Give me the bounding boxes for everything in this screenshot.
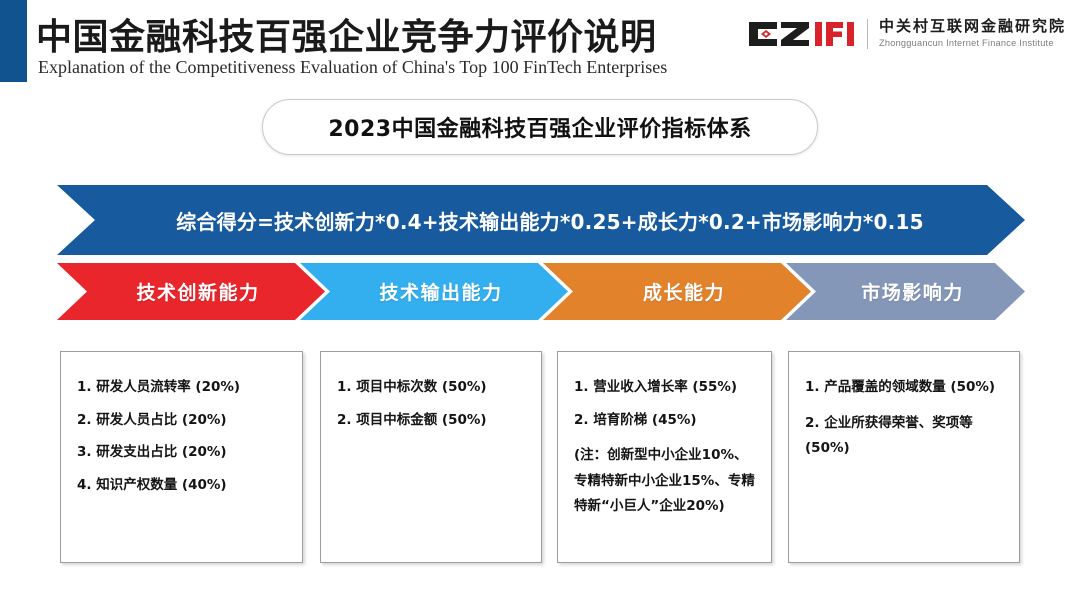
detail-line: 1. 研发人员流转率 (20%) — [77, 378, 290, 398]
detail-box-3: 1. 营业收入增长率 (55%)2. 培育阶梯 (45%)(注：创新型中小企业1… — [557, 351, 772, 563]
detail-box-2: 1. 项目中标次数 (50%)2. 项目中标金额 (50%) — [320, 351, 542, 563]
category-chevron-4[interactable]: 市场影响力 — [786, 263, 1025, 320]
czifi-logo-icon — [747, 18, 857, 50]
score-formula-banner: 综合得分=技术创新力*0.4+技术输出能力*0.25+成长力*0.2+市场影响力… — [57, 185, 1025, 255]
detail-line: 2. 企业所获得荣誉、奖项等 (50%) — [805, 411, 1007, 462]
organization-logo: 中关村互联网金融研究院 Zhongguancun Internet Financ… — [747, 12, 1066, 56]
index-system-title-text: 2023中国金融科技百强企业评价指标体系 — [328, 111, 751, 143]
detail-box-4: 1. 产品覆盖的领域数量 (50%)2. 企业所获得荣誉、奖项等 (50%) — [788, 351, 1020, 563]
detail-line: 1. 营业收入增长率 (55%) — [574, 378, 759, 398]
category-chevron-label: 市场影响力 — [847, 278, 964, 305]
detail-line: 1. 项目中标次数 (50%) — [337, 378, 529, 398]
logo-name-english: Zhongguancun Internet Finance Institute — [879, 38, 1066, 50]
detail-box-1: 1. 研发人员流转率 (20%)2. 研发人员占比 (20%)3. 研发支出占比… — [60, 351, 303, 563]
header-accent-bar — [0, 0, 27, 82]
category-chevron-row: 技术创新能力技术输出能力成长能力市场影响力 — [57, 263, 1025, 320]
category-chevron-label: 技术输出能力 — [365, 278, 502, 305]
category-chevron-label: 技术创新能力 — [122, 278, 259, 305]
detail-line: 1. 产品覆盖的领域数量 (50%) — [805, 378, 1007, 398]
index-system-title-box: 2023中国金融科技百强企业评价指标体系 — [262, 99, 818, 155]
page-title-english: Explanation of the Competitiveness Evalu… — [38, 57, 667, 78]
detail-line: 2. 研发人员占比 (20%) — [77, 411, 290, 431]
category-chevron-label: 成长能力 — [629, 278, 725, 305]
logo-divider — [867, 19, 868, 49]
slide-header: 中国金融科技百强企业竞争力评价说明 Explanation of the Com… — [0, 0, 1080, 90]
detail-line: 4. 知识产权数量 (40%) — [77, 476, 290, 496]
detail-line: 3. 研发支出占比 (20%) — [77, 443, 290, 463]
category-chevron-2[interactable]: 技术输出能力 — [300, 263, 568, 320]
logo-text-block: 中关村互联网金融研究院 Zhongguancun Internet Financ… — [879, 18, 1066, 49]
detail-box-row: 1. 研发人员流转率 (20%)2. 研发人员占比 (20%)3. 研发支出占比… — [0, 351, 1080, 563]
detail-line: 2. 培育阶梯 (45%) — [574, 411, 759, 431]
logo-name-chinese: 中关村互联网金融研究院 — [879, 18, 1066, 35]
score-formula-text: 综合得分=技术创新力*0.4+技术输出能力*0.25+成长力*0.2+市场影响力… — [158, 206, 923, 235]
page-title-chinese: 中国金融科技百强企业竞争力评价说明 — [36, 8, 657, 60]
category-chevron-3[interactable]: 成长能力 — [543, 263, 811, 320]
category-chevron-1[interactable]: 技术创新能力 — [57, 263, 325, 320]
detail-line: 2. 项目中标金额 (50%) — [337, 411, 529, 431]
slide-root: 中国金融科技百强企业竞争力评价说明 Explanation of the Com… — [0, 0, 1080, 608]
detail-line: (注：创新型中小企业10%、专精特新中小企业15%、专精特新“小巨人”企业20%… — [574, 443, 759, 520]
